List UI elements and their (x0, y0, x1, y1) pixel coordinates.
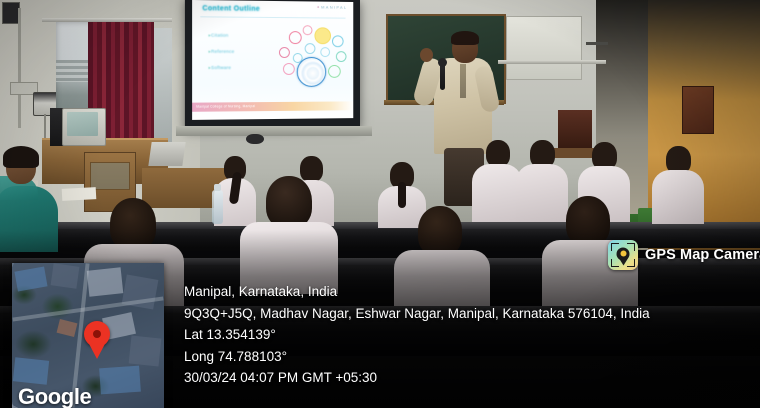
presentation-slide: Content Outline MANIPAL Citation Referen… (192, 0, 353, 120)
papers-on-desk (62, 187, 97, 201)
gps-map-camera-photo: Content Outline MANIPAL Citation Referen… (0, 0, 760, 408)
projector-unit (246, 134, 264, 144)
board-rail (498, 60, 606, 64)
student-head (418, 206, 462, 256)
cable-hook (586, 42, 608, 45)
presenter-left-hand (420, 48, 433, 62)
map-building (13, 357, 49, 384)
water-bottle (212, 190, 223, 224)
map-location-pin-icon (84, 321, 110, 347)
google-watermark: Google (18, 384, 91, 408)
viewfinder-corner-icon (627, 259, 635, 267)
student-head (110, 198, 156, 250)
student-head (566, 196, 610, 246)
presenter-shirt-placket (460, 64, 466, 98)
slide-footer-text: Manipal College of Nursing, Manipal (196, 104, 255, 109)
projector-screen: Content Outline MANIPAL Citation Referen… (185, 0, 360, 129)
student-shirt (472, 164, 522, 222)
gps-map-camera-pin-icon (608, 240, 638, 270)
map-building (99, 366, 141, 395)
gps-map-camera-badge: GPS Map Camera (608, 240, 760, 270)
presenter-glasses (454, 42, 475, 47)
wooden-cabinet (558, 110, 592, 152)
slide-footer-bar: Manipal College of Nursing, Manipal (192, 101, 353, 111)
microphone-head (438, 58, 447, 67)
student-shirt (516, 164, 568, 222)
podium-glass-panel (90, 162, 130, 190)
slide-bullet-item: Reference (209, 49, 235, 55)
student-head (266, 176, 312, 228)
screen-base (176, 126, 372, 136)
woman-hair (3, 146, 39, 168)
student-ponytail (398, 182, 406, 208)
slide-bullet-item: Citation (209, 33, 235, 39)
slide-bullet-list: Citation Reference Software (209, 33, 235, 82)
wall-conduit (18, 8, 21, 128)
gps-address-line: 9Q3Q+J5Q, Madhav Nagar, Eshwar Nagar, Ma… (184, 303, 650, 325)
map-building (51, 263, 80, 288)
slide-title: Content Outline (202, 5, 260, 13)
slide-divider (200, 16, 345, 18)
slide-brand-logo: MANIPAL (317, 5, 348, 10)
crt-monitor-screen (67, 112, 98, 136)
gps-map-camera-label: GPS Map Camera (645, 247, 760, 263)
student-shirt (652, 170, 704, 224)
water-bottle-cap (214, 184, 221, 191)
laptop (148, 142, 185, 166)
gps-latitude-line: Lat 13.354139° (184, 324, 650, 346)
slide-bullet-item: Software (209, 65, 235, 71)
gps-info-block: Manipal, Karnataka, India 9Q3Q+J5Q, Madh… (184, 281, 650, 389)
slide-circle-graphic (275, 21, 347, 93)
map-building (87, 267, 124, 296)
gps-datetime-line: 30/03/24 04:07 PM GMT +05:30 (184, 367, 650, 389)
student-head (486, 140, 510, 167)
slide-spiral-ring (297, 57, 326, 87)
map-thumbnail[interactable]: Google (12, 263, 164, 408)
gps-place-line: Manipal, Karnataka, India (184, 281, 650, 303)
wall-mounted-box (682, 86, 714, 134)
map-building (129, 336, 162, 367)
map-pin-icon (617, 247, 630, 260)
projection-surface: Content Outline MANIPAL Citation Referen… (192, 0, 353, 120)
window-secondary (152, 28, 172, 144)
student-head (300, 156, 323, 182)
whiteboard-panel (506, 16, 582, 80)
gps-longitude-line: Long 74.788103° (184, 346, 650, 368)
